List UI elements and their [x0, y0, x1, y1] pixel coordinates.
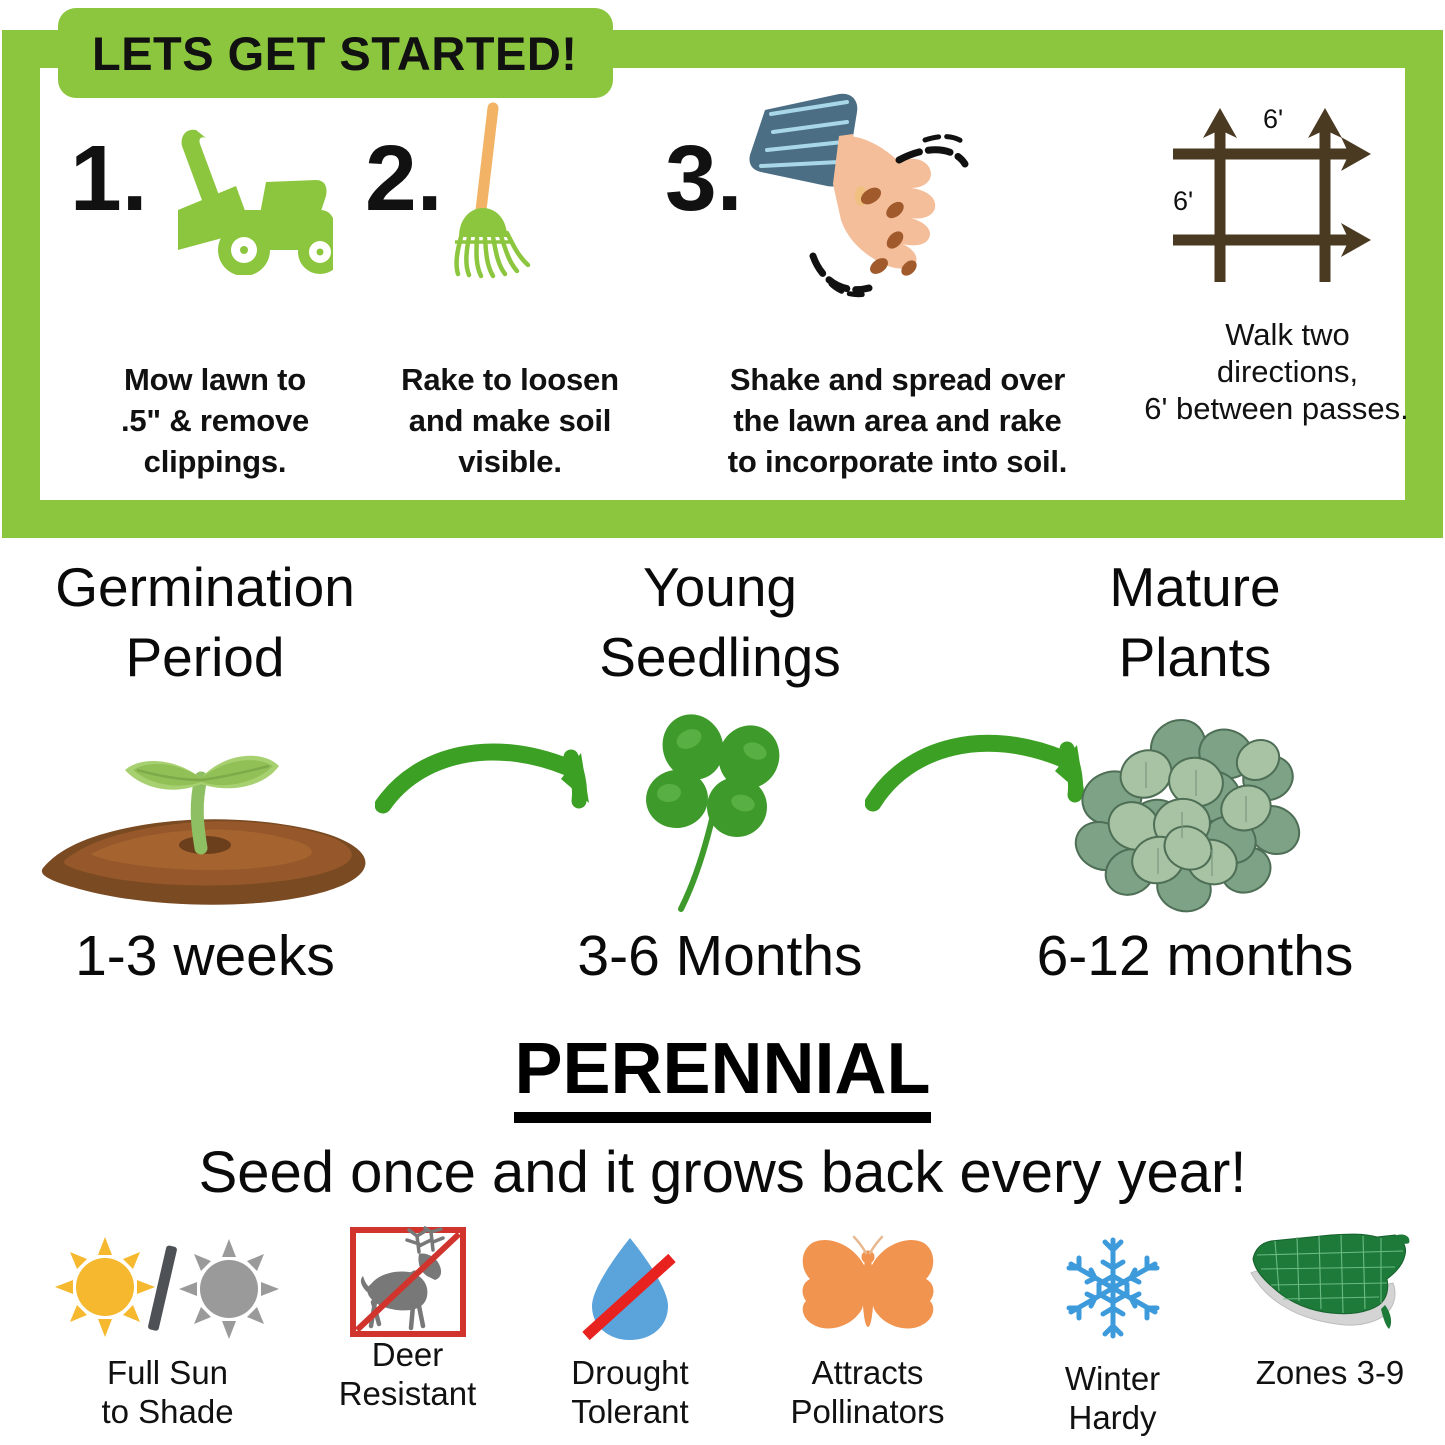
feature-1-label-line: Full Sun [35, 1354, 300, 1393]
step-1-caption: Mow lawn to .5" & remove clippings. [70, 360, 360, 483]
feature-5-label: Winter Hardy [1000, 1360, 1225, 1438]
stage-2-title: Young Seedlings [520, 552, 920, 693]
step-3-caption-line: the lawn area and rake [665, 401, 1130, 442]
feature-winter-hardy: Winter Hardy [1000, 1228, 1225, 1438]
feature-3-label: Drought Tolerant [515, 1354, 745, 1432]
step-1-number: 1. [70, 132, 148, 225]
deer-resistant-icon [300, 1228, 515, 1336]
step-3: 3. [665, 110, 1130, 310]
panel-header-label: LETS GET STARTED! [92, 26, 577, 81]
stage-1-title-line: Period [10, 622, 400, 692]
feature-icons-row: Full Sun to Shade [0, 1228, 1445, 1445]
feature-2-label: Deer Resistant [300, 1336, 515, 1414]
feature-5-label-line: Winter [1000, 1360, 1225, 1399]
perennial-subtitle: Seed once and it grows back every year! [0, 1139, 1445, 1206]
grid-caption-line: Walk two [1145, 316, 1430, 353]
stage-3-title: Mature Plants [985, 552, 1405, 693]
stage-1-title: Germination Period [10, 552, 400, 693]
sun-shade-icon [35, 1228, 300, 1348]
perennial-section: PERENNIAL Seed once and it grows back ev… [0, 1028, 1445, 1206]
step-1-caption-line: Mow lawn to [70, 360, 360, 401]
growth-stage-young-seedlings: Young Seedlings 3-6 Months [520, 552, 920, 989]
lets-get-started-panel: LETS GET STARTED! 1. [0, 0, 1445, 542]
step-2-caption-line: Rake to loosen [365, 360, 655, 401]
feature-5-label-line: Hardy [1000, 1399, 1225, 1438]
feature-3-label-line: Tolerant [515, 1393, 745, 1432]
feature-4-label: Attracts Pollinators [745, 1354, 990, 1432]
step-2: 2. [365, 110, 655, 310]
step-1: 1. [70, 110, 360, 310]
rake-icon [443, 110, 593, 292]
feature-3-label-line: Drought [515, 1354, 745, 1393]
step-2-caption: Rake to loosen and make soil visible. [365, 360, 655, 483]
growth-timeline: Germination Period 1-3 weeks [0, 552, 1445, 1022]
stage-1-title-line: Germination [10, 552, 400, 622]
feature-1-label: Full Sun to Shade [35, 1354, 300, 1432]
feature-6-label-line: Zones 3-9 [1215, 1354, 1445, 1393]
feature-1-label-line: to Shade [35, 1393, 300, 1432]
step-1-caption-line: clippings. [70, 442, 360, 483]
stage-2-duration: 3-6 Months [520, 923, 920, 989]
feature-full-sun-to-shade: Full Sun to Shade [35, 1228, 300, 1432]
feature-deer-resistant: Deer Resistant [300, 1228, 515, 1414]
clover-sprout-icon [520, 693, 920, 923]
step-2-caption-line: and make soil [365, 401, 655, 442]
panel-header-tab: LETS GET STARTED! [58, 8, 613, 98]
water-drop-slash-icon [515, 1228, 745, 1348]
feature-6-label: Zones 3-9 [1215, 1354, 1445, 1393]
perennial-title: PERENNIAL [514, 1028, 930, 1123]
crossing-arrows-grid-icon: 6' 6' [1145, 294, 1430, 311]
usa-map-zones-icon [1215, 1228, 1445, 1336]
feature-zones: Zones 3-9 [1215, 1228, 1445, 1393]
stage-3-duration: 6-12 months [985, 923, 1405, 989]
stage-1-duration: 1-3 weeks [10, 923, 400, 989]
step-3-caption-line: Shake and spread over [665, 360, 1130, 401]
stage-2-title-line: Seedlings [520, 622, 920, 692]
lawn-mower-icon [148, 110, 333, 280]
growth-stage-mature-plants: Mature Plants [985, 552, 1405, 989]
seedling-in-soil-icon [10, 693, 400, 923]
butterfly-icon [745, 1228, 990, 1348]
stage-3-title-line: Mature [985, 552, 1405, 622]
walking-pattern-diagram: 6' 6' Walk two directions, 6' between pa… [1145, 92, 1430, 428]
grid-caption-line: 6' between passes. [1123, 390, 1430, 427]
snowflake-icon [1000, 1228, 1225, 1348]
step-1-caption-line: .5" & remove [70, 401, 360, 442]
feature-4-label-line: Attracts [745, 1354, 990, 1393]
stage-3-title-line: Plants [985, 622, 1405, 692]
feature-2-label-line: Resistant [300, 1375, 515, 1414]
feature-4-label-line: Pollinators [745, 1393, 990, 1432]
walking-pattern-caption: Walk two directions, 6' between passes. [1145, 316, 1430, 428]
step-3-caption: Shake and spread over the lawn area and … [665, 360, 1130, 483]
step-2-number: 2. [365, 132, 443, 225]
step-3-number: 3. [665, 132, 743, 225]
grid-left-label: 6' [1173, 186, 1193, 216]
leaf-cluster-icon [985, 693, 1405, 923]
feature-attracts-pollinators: Attracts Pollinators [745, 1228, 990, 1432]
growth-stage-germination: Germination Period 1-3 weeks [10, 552, 400, 989]
feature-2-label-line: Deer [300, 1336, 515, 1375]
hand-spreading-seed-icon [743, 110, 993, 303]
step-3-caption-line: to incorporate into soil. [665, 442, 1130, 483]
grid-caption-line: directions, [1145, 353, 1430, 390]
steps-row: 1. [40, 110, 1405, 510]
stage-2-title-line: Young [520, 552, 920, 622]
step-2-caption-line: visible. [365, 442, 655, 483]
grid-top-label: 6' [1263, 104, 1283, 134]
feature-drought-tolerant: Drought Tolerant [515, 1228, 745, 1432]
